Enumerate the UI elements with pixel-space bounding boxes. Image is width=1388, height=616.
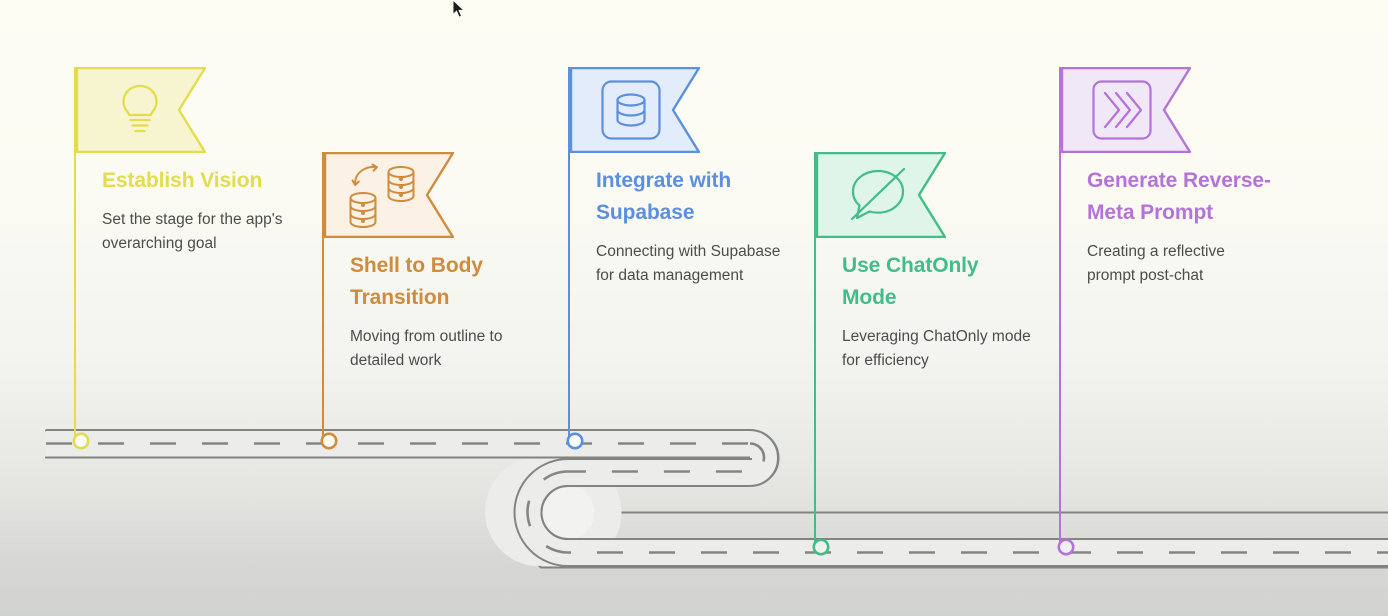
milestone-description: Connecting with Supabase for data manage…: [596, 240, 786, 288]
milestone-shell-to-body-transition[interactable]: Shell to Body Transition Moving from out…: [322, 152, 522, 373]
road-surface: [46, 431, 1388, 567]
flag-shape: [570, 67, 700, 153]
roadmap-diagram: Establish Vision Set the stage for the a…: [0, 0, 1388, 616]
milestone-integrate-with-supabase[interactable]: Integrate with Supabase Connecting with …: [568, 67, 768, 288]
milestone-flag: [1059, 67, 1259, 153]
flag-shape: [76, 67, 206, 153]
milestone-flag: [568, 67, 768, 153]
milestone-description: Leveraging ChatOnly mode for efficiency: [842, 325, 1032, 373]
milestone-flag: [814, 152, 1014, 238]
milestone-flag: [322, 152, 522, 238]
milestone-title: Generate Reverse-Meta Prompt: [1087, 165, 1272, 229]
road-center-dashes: [46, 444, 1388, 553]
milestone-establish-vision[interactable]: Establish Vision Set the stage for the a…: [74, 67, 274, 256]
milestone-description: Creating a reflective prompt post-chat: [1087, 240, 1277, 288]
milestone-generate-reverse-meta-prompt[interactable]: Generate Reverse-Meta Prompt Creating a …: [1059, 67, 1259, 288]
flag-shape: [816, 152, 946, 238]
milestone-description: Moving from outline to detailed work: [350, 325, 540, 373]
milestone-use-chatonly-mode[interactable]: Use ChatOnly Mode Leveraging ChatOnly mo…: [814, 152, 1014, 373]
flag-shape: [324, 152, 454, 238]
milestone-description: Set the stage for the app's overarching …: [102, 208, 292, 256]
milestone-title: Establish Vision: [102, 165, 287, 197]
flag-shape: [1061, 67, 1191, 153]
road-render: [46, 430, 1388, 567]
milestone-title: Shell to Body Transition: [350, 250, 535, 314]
milestone-title: Integrate with Supabase: [596, 165, 781, 229]
milestone-title: Use ChatOnly Mode: [842, 250, 1027, 314]
road-edges: [46, 431, 1388, 568]
mouse-pointer-icon: [452, 0, 465, 19]
milestone-flag: [74, 67, 274, 153]
